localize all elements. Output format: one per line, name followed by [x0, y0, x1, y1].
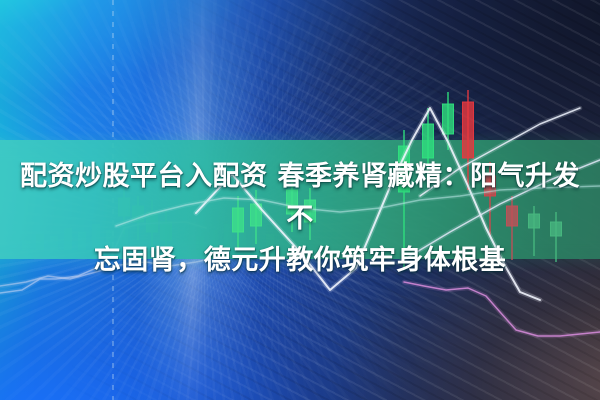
banner-headline: 配资炒股平台入配资 春季养肾藏精：阳气升发不 忘固肾，德元升教你筑牢身体根基: [0, 156, 600, 282]
banner-image: 配资炒股平台入配资 春季养肾藏精：阳气升发不 忘固肾，德元升教你筑牢身体根基: [0, 0, 600, 400]
